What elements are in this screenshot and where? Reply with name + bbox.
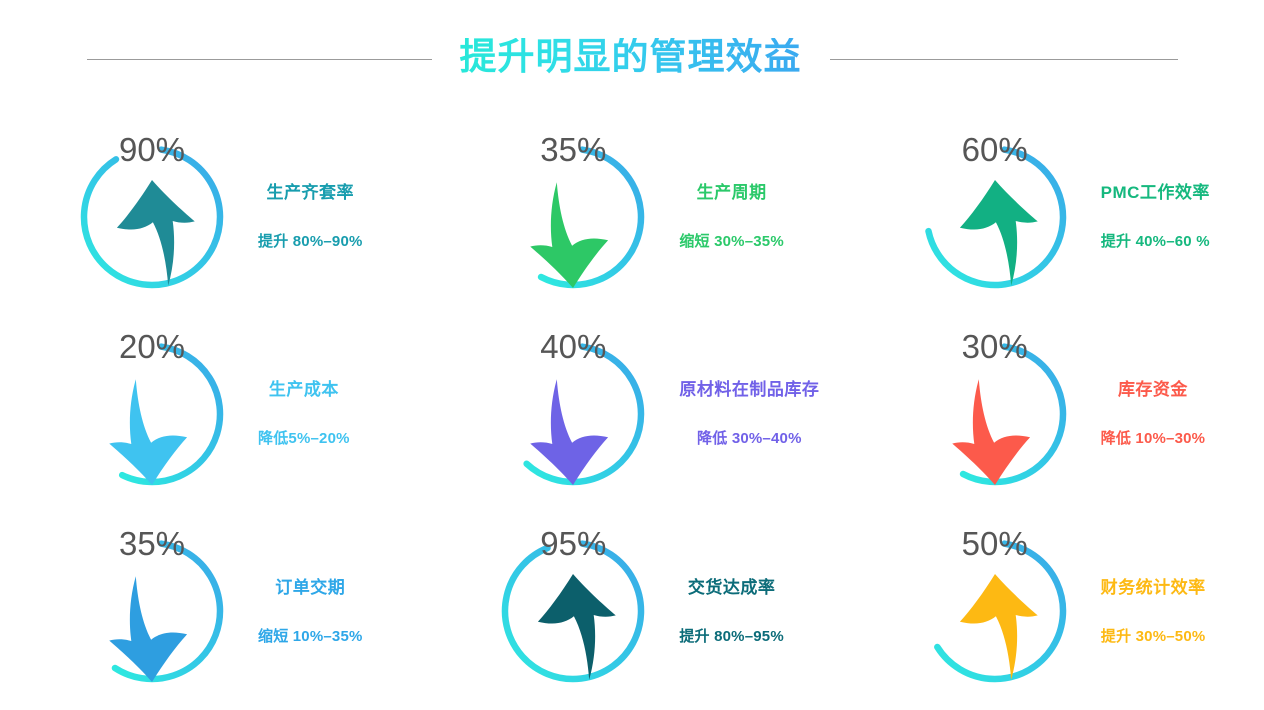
metric-delta: 提升 80%–90%	[258, 234, 363, 249]
arrow-up-icon	[72, 171, 232, 297]
gauge-pmc-work-efficiency: 60%	[915, 137, 1075, 297]
gauge-value: 35%	[540, 133, 606, 166]
arrow-up-icon	[915, 171, 1075, 297]
gauge-center: 35%	[72, 531, 232, 691]
gauge-delivery-achievement-rate: 95%	[493, 531, 653, 691]
metric-text-block: 生产周期 缩短 30%–35%	[679, 184, 784, 249]
metric-title: 交货达成率	[679, 579, 784, 596]
metric-delta: 缩短 10%–35%	[258, 629, 363, 644]
gauge-raw-material-wip-inventory: 40%	[493, 334, 653, 494]
gauge-center: 50%	[915, 531, 1075, 691]
gauge-value: 90%	[119, 133, 185, 166]
metric-card: 20% 生产成本 降低5%–20%	[0, 315, 421, 512]
metric-text-block: 财务统计效率 提升 30%–50%	[1101, 579, 1206, 644]
metric-delta: 降低 10%–30%	[1101, 431, 1206, 446]
page-title: 提升明显的管理效益	[458, 38, 804, 81]
arrow-up-icon	[915, 565, 1075, 691]
page-header: 提升明显的管理效益	[0, 0, 1264, 118]
header-rule-right	[830, 59, 1178, 60]
arrow-down-icon	[493, 171, 653, 297]
gauge-center: 95%	[493, 531, 653, 691]
arrow-down-icon	[72, 368, 232, 494]
metric-text-block: 生产齐套率 提升 80%–90%	[258, 184, 363, 249]
gauge-center: 20%	[72, 334, 232, 494]
arrow-down-icon	[493, 368, 653, 494]
gauge-value: 20%	[119, 330, 185, 363]
gauge-center: 40%	[493, 334, 653, 494]
metric-title: 原材料在制品库存	[679, 381, 819, 398]
metric-delta: 提升 30%–50%	[1101, 629, 1206, 644]
metric-delta: 降低 30%–40%	[679, 431, 819, 446]
gauge-center: 35%	[493, 137, 653, 297]
metric-title: 生产齐套率	[258, 184, 363, 201]
metric-text-block: 原材料在制品库存 降低 30%–40%	[679, 381, 819, 446]
metric-text-block: 订单交期 缩短 10%–35%	[258, 579, 363, 644]
metric-text-block: 生产成本 降低5%–20%	[258, 381, 350, 446]
metric-text-block: PMC工作效率 提升 40%–60 %	[1101, 184, 1210, 249]
gauge-value: 50%	[962, 527, 1028, 560]
metric-delta: 提升 40%–60 %	[1101, 234, 1210, 249]
metric-title: 生产成本	[258, 381, 350, 398]
metric-title: PMC工作效率	[1101, 184, 1210, 201]
gauge-production-cost: 20%	[72, 334, 232, 494]
metric-card: 90% 生产齐套率 提升 80%–90%	[0, 118, 421, 315]
gauge-center: 90%	[72, 137, 232, 297]
arrow-down-icon	[72, 565, 232, 691]
metric-delta: 提升 80%–95%	[679, 629, 784, 644]
metric-card: 35% 订单交期 缩短 10%–35%	[0, 513, 421, 710]
metric-card: 50% 财务统计效率 提升 30%–50%	[843, 513, 1264, 710]
arrow-down-icon	[915, 368, 1075, 494]
metrics-grid: 90% 生产齐套率 提升 80%–90%	[0, 118, 1264, 710]
gauge-value: 60%	[962, 133, 1028, 166]
header-rule-left	[87, 59, 432, 60]
gauge-center: 60%	[915, 137, 1075, 297]
metric-title: 库存资金	[1101, 381, 1206, 398]
gauge-inventory-capital: 30%	[915, 334, 1075, 494]
metric-title: 生产周期	[679, 184, 784, 201]
metric-delta: 缩短 30%–35%	[679, 234, 784, 249]
metric-card: 30% 库存资金 降低 10%–30%	[843, 315, 1264, 512]
metric-card: 95% 交货达成率 提升 80%–95%	[421, 513, 842, 710]
arrow-up-icon	[493, 565, 653, 691]
metric-text-block: 库存资金 降低 10%–30%	[1101, 381, 1206, 446]
gauge-order-lead-time: 35%	[72, 531, 232, 691]
metric-delta: 降低5%–20%	[258, 431, 350, 446]
gauge-value: 95%	[540, 527, 606, 560]
gauge-value: 40%	[540, 330, 606, 363]
metric-title: 财务统计效率	[1101, 579, 1206, 596]
gauge-value: 35%	[119, 527, 185, 560]
metric-card: 60% PMC工作效率 提升 40%–60 %	[843, 118, 1264, 315]
gauge-production-kitting-rate: 90%	[72, 137, 232, 297]
gauge-finance-statistics-efficiency: 50%	[915, 531, 1075, 691]
gauge-center: 30%	[915, 334, 1075, 494]
metric-card: 35% 生产周期 缩短 30%–35%	[421, 118, 842, 315]
metric-card: 40% 原材料在制品库存 降低 30%–40%	[421, 315, 842, 512]
metric-text-block: 交货达成率 提升 80%–95%	[679, 579, 784, 644]
metric-title: 订单交期	[258, 579, 363, 596]
gauge-production-cycle: 35%	[493, 137, 653, 297]
gauge-value: 30%	[962, 330, 1028, 363]
